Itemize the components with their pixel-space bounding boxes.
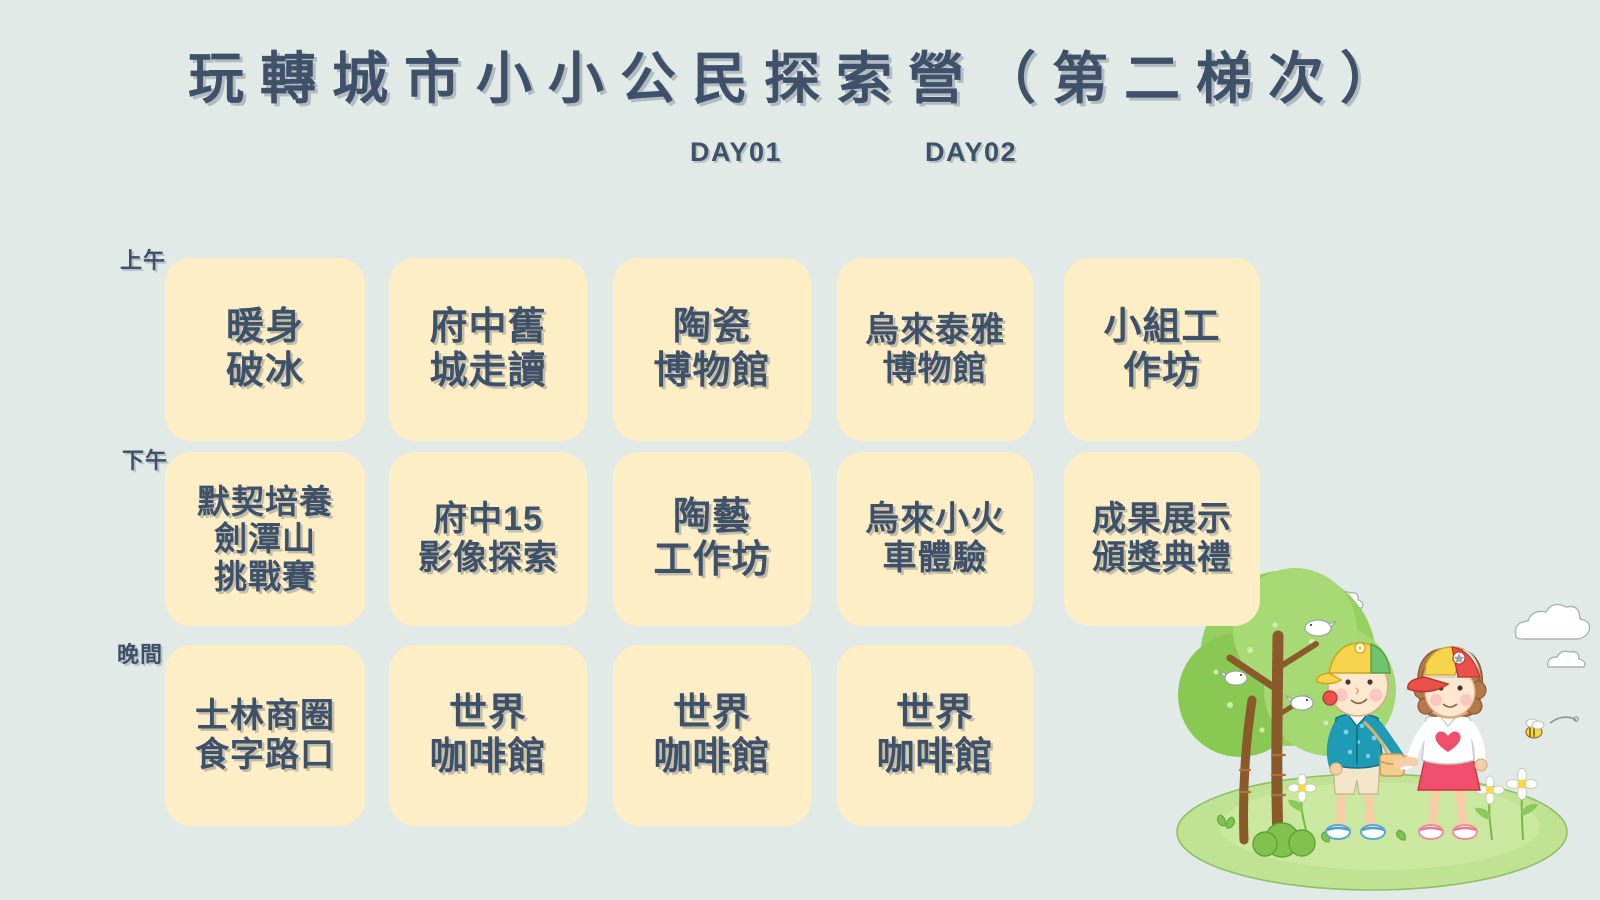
schedule-card-line: 暖身 (226, 306, 304, 349)
schedule-card[interactable]: 士林商圈食字路口 (165, 645, 365, 826)
schedule-card-line: 府中15 (433, 500, 543, 539)
schedule-card[interactable]: 暖身破冰 (165, 258, 365, 441)
schedule-card[interactable]: 默契培養劍潭山挑戰賽 (165, 452, 365, 626)
schedule-card-line: 陶瓷 (673, 306, 751, 349)
schedule-card-line: 咖啡館 (876, 736, 993, 779)
row-label-afternoon: 下午 (122, 443, 168, 475)
schedule-card-line: 咖啡館 (429, 736, 546, 779)
schedule-card-line: 烏來泰雅 (865, 311, 1005, 350)
slide-canvas: 玩轉城市小小公民探索營（第二梯次） DAY01 DAY02 上午 下午 晚間 暖… (0, 0, 1600, 900)
schedule-card-line: 挑戰賽 (214, 558, 316, 596)
schedule-card-line: 車體驗 (883, 539, 988, 578)
schedule-card[interactable]: 府中15影像探索 (389, 452, 587, 626)
schedule-card[interactable]: 陶瓷博物館 (613, 258, 811, 441)
schedule-card-line: 博物館 (653, 350, 770, 393)
schedule-card-line: 成果展示 (1092, 500, 1232, 539)
schedule-card-line: 士林商圈 (195, 697, 335, 736)
schedule-card[interactable]: 烏來小火車體驗 (837, 452, 1033, 626)
row-label-morning: 上午 (120, 243, 166, 275)
schedule-card-line: 城走讀 (429, 350, 546, 393)
schedule-card[interactable]: 小組工作坊 (1064, 258, 1260, 441)
schedule-card[interactable]: 世界咖啡館 (613, 645, 811, 826)
schedule-card[interactable]: 府中舊城走讀 (389, 258, 587, 441)
row-label-evening: 晚間 (117, 637, 163, 669)
schedule-card[interactable]: 陶藝工作坊 (613, 452, 811, 626)
schedule-card-line: 默契培養 (197, 483, 333, 521)
schedule-card-line: 破冰 (226, 350, 304, 393)
schedule-card-line: 陶藝 (673, 496, 751, 539)
schedule-card[interactable]: 成果展示頒獎典禮 (1064, 452, 1260, 626)
schedule-card[interactable]: 烏來泰雅博物館 (837, 258, 1033, 441)
schedule-card-line: 食字路口 (195, 736, 335, 775)
schedule-card-line: 作坊 (1123, 350, 1201, 393)
schedule-card-line: 頒獎典禮 (1092, 539, 1232, 578)
schedule-card-line: 影像探索 (418, 539, 558, 578)
schedule-card-line: 劍潭山 (214, 520, 316, 558)
schedule-card[interactable]: 世界咖啡館 (389, 645, 587, 826)
schedule-card[interactable]: 世界咖啡館 (837, 645, 1033, 826)
schedule-card-line: 府中舊 (429, 306, 546, 349)
schedule-card-line: 烏來小火 (865, 500, 1005, 539)
schedule-card-line: 世界 (673, 692, 751, 735)
schedule-card-line: 咖啡館 (653, 736, 770, 779)
schedule-card-line: 世界 (896, 692, 974, 735)
schedule-card-line: 小組工 (1103, 306, 1220, 349)
schedule-card-line: 工作坊 (653, 539, 770, 582)
schedule-card-line: 世界 (449, 692, 527, 735)
schedule-grid: 暖身破冰府中舊城走讀陶瓷博物館烏來泰雅博物館小組工作坊默契培養劍潭山挑戰賽府中1… (0, 0, 1600, 900)
schedule-card-line: 博物館 (883, 350, 988, 389)
